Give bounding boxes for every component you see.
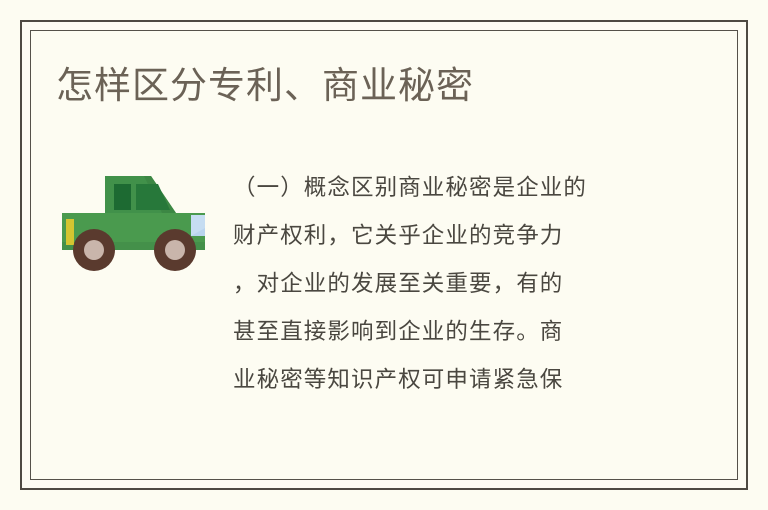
truck-illustration (58, 168, 216, 272)
paragraph-line: 财产权利，它关乎企业的竞争力 (233, 212, 647, 260)
green-pickup-truck-icon (58, 168, 216, 272)
body-paragraph: （一）概念区别商业秘密是企业的 财产权利，它关乎企业的竞争力 ，对企业的发展至关… (233, 164, 647, 404)
page-canvas: 怎样区分专利、商业秘密 （一）概念区别商业 (0, 0, 768, 510)
paragraph-line: （一）概念区别商业秘密是企业的 (233, 164, 647, 212)
paragraph-line: ，对企业的发展至关重要，有的 (233, 260, 647, 308)
paragraph-line: 甚至直接影响到企业的生存。商 (233, 308, 647, 356)
page-title: 怎样区分专利、商业秘密 (56, 62, 474, 110)
paragraph-line: 业秘密等知识产权可申请紧急保 (233, 356, 647, 404)
